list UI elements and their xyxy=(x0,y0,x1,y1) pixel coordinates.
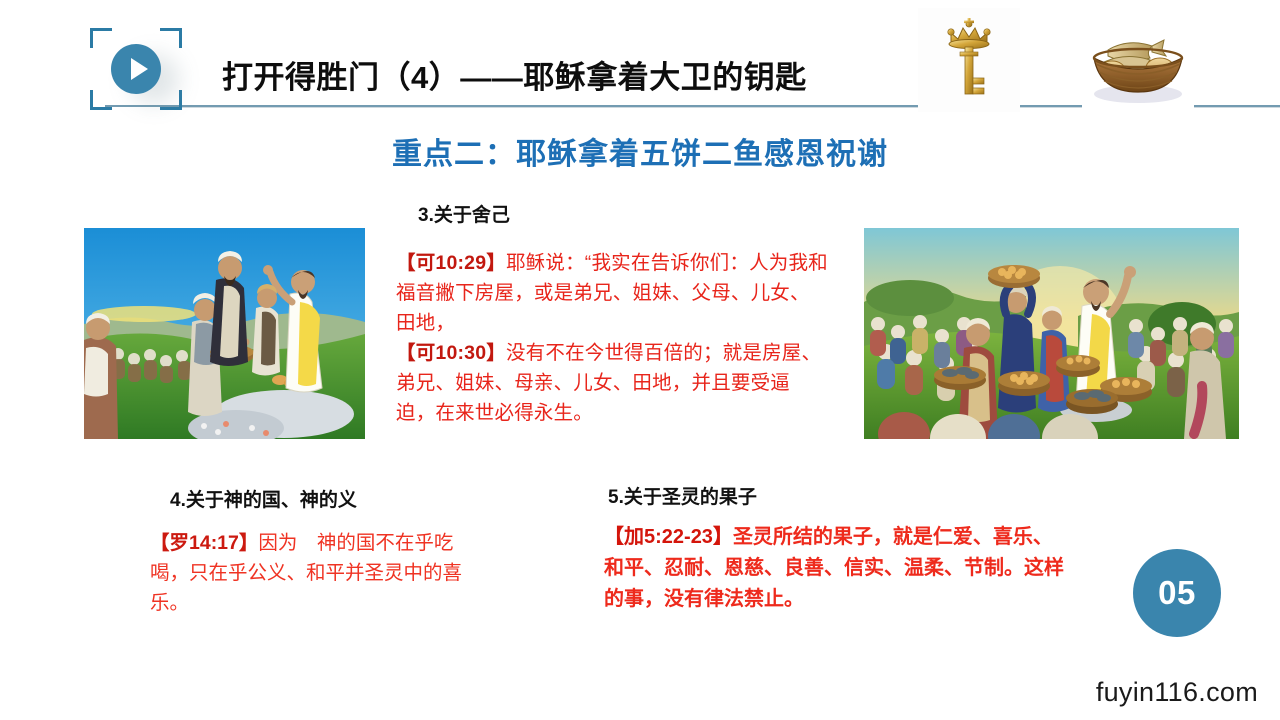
page-number-badge: 05 xyxy=(1133,549,1221,637)
scripture-block-4: 【罗14:17】因为 神的国不在乎吃喝，只在乎公义、和平并圣灵中的喜乐。 xyxy=(150,528,470,618)
scripture-ref: 【可10:30】 xyxy=(396,342,506,364)
jesus-blessing-loaves-illustration xyxy=(84,228,365,439)
scripture-ref: 【加5:22-23】 xyxy=(604,526,733,548)
scripture-ref: 【可10:29】 xyxy=(396,252,506,274)
scripture-ref: 【罗14:17】 xyxy=(150,532,258,554)
basket-of-loaves-and-fish-icon xyxy=(1082,6,1194,112)
section-heading-5: 5.关于圣灵的果子 xyxy=(608,482,757,509)
section-heading-4: 4.关于神的国、神的义 xyxy=(170,485,357,512)
frame-notch-left xyxy=(88,48,93,90)
play-circle xyxy=(111,44,161,94)
site-watermark: fuyin116.com xyxy=(1096,677,1258,708)
scripture-block-5: 【加5:22-23】圣灵所结的果子，就是仁爱、喜乐、和平、忍耐、恩慈、良善、信实… xyxy=(604,522,1064,615)
slide-title: 打开得胜门（4）——耶稣拿着大卫的钥匙 xyxy=(222,52,807,97)
scripture-block-3: 【可10:29】耶稣说：“我实在告诉你们：人为我和福音撇下房屋，或是弟兄、姐妹、… xyxy=(396,248,828,428)
slide-subtitle: 重点二：耶稣拿着五饼二鱼感恩祝谢 xyxy=(0,129,1280,173)
play-circle-icon[interactable] xyxy=(90,28,182,110)
frame-notch-right xyxy=(179,48,184,90)
play-triangle-icon xyxy=(131,58,148,80)
frame-notch-top xyxy=(112,26,160,31)
section-heading-3: 3.关于舍己 xyxy=(418,200,510,227)
jesus-feeding-the-multitude-illustration xyxy=(864,228,1239,439)
golden-key-with-crown-icon xyxy=(918,8,1020,112)
frame-notch-bottom xyxy=(112,107,160,112)
